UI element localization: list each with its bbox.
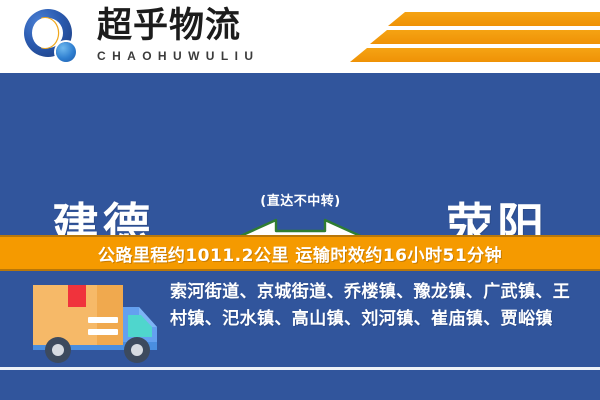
banner-header: 超乎物流 CHAOHUWULIU — [0, 0, 600, 73]
brand-block: 超乎物流 CHAOHUWULIU — [97, 6, 259, 64]
company-logo-icon — [24, 9, 80, 65]
brand-name-cn: 超乎物流 — [97, 6, 259, 46]
logo-crescent-mask — [32, 18, 58, 48]
logo-dot-icon — [56, 42, 76, 62]
coverage-area-list: 索河街道、京城街道、乔楼镇、豫龙镇、广武镇、王村镇、汜水镇、高山镇、刘河镇、崔庙… — [170, 279, 582, 333]
decorative-stripe-1 — [388, 12, 600, 26]
brand-name-en: CHAOHUWULIU — [97, 48, 259, 64]
logistics-route-banner: 超乎物流 CHAOHUWULIU 建德 (直达不中转) 【往返运输】 荥阳 公路… — [0, 0, 600, 400]
route-panel: 建德 (直达不中转) 【往返运输】 荥阳 — [0, 73, 600, 235]
distance-duration-bar: 公路里程约1011.2公里 运输时效约16小时51分钟 — [0, 235, 600, 271]
arrow-top-label: (直达不中转) — [233, 190, 368, 209]
decorative-stripe-3 — [350, 48, 600, 62]
coverage-panel: 索河街道、京城街道、乔楼镇、豫龙镇、广武镇、王村镇、汜水镇、高山镇、刘河镇、崔庙… — [0, 271, 600, 400]
distance-duration-text: 公路里程约1011.2公里 运输时效约16小时51分钟 — [98, 241, 502, 266]
road-line — [0, 367, 600, 370]
decorative-stripe-2 — [370, 30, 600, 44]
delivery-truck-icon — [25, 279, 165, 369]
